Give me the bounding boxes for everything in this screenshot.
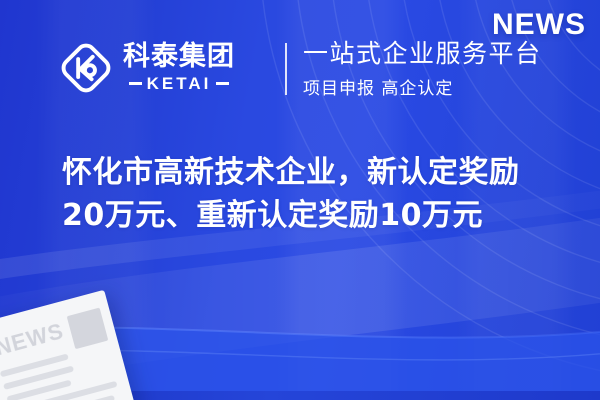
news-kicker: NEWS bbox=[492, 8, 586, 42]
brand-logo[interactable]: 科泰集团 KETAI bbox=[58, 40, 235, 96]
rule-right-icon bbox=[216, 82, 229, 85]
header-text-block: 一站式企业服务平台 项目申报 高企认定 bbox=[303, 40, 542, 99]
vertical-divider bbox=[285, 43, 287, 95]
ketai-diamond-monogram-icon bbox=[58, 40, 114, 96]
banner-header: 科泰集团 KETAI 一站式企业服务平台 项目申报 高企认定 NEWS bbox=[0, 0, 600, 132]
headline-line-2: 20万元、重新认定奖励10万元 bbox=[62, 195, 562, 238]
news-banner: 科泰集团 KETAI 一站式企业服务平台 项目申报 高企认定 NEWS 怀化市高… bbox=[0, 0, 600, 400]
headline-line-1: 怀化市高新技术企业，新认定奖励 bbox=[62, 152, 562, 195]
brand-wordmark: 科泰集团 KETAI bbox=[123, 43, 235, 93]
brand-name-cn: 科泰集团 bbox=[123, 43, 235, 71]
header-subtagline: 项目申报 高企认定 bbox=[303, 74, 542, 99]
page-title: 怀化市高新技术企业，新认定奖励 20万元、重新认定奖励10万元 bbox=[62, 152, 562, 237]
header-tagline: 一站式企业服务平台 bbox=[303, 40, 542, 69]
brand-name-en: KETAI bbox=[147, 74, 212, 94]
rule-left-icon bbox=[129, 82, 142, 85]
brand-name-en-row: KETAI bbox=[123, 74, 235, 94]
